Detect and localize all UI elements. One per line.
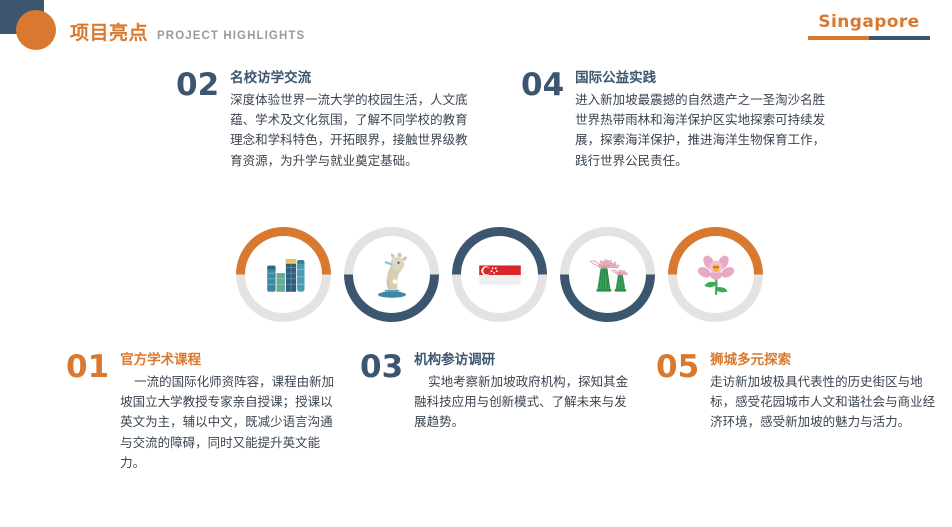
highlight-number-04: 04 xyxy=(521,70,564,101)
orchid-icon xyxy=(687,246,745,304)
brand: Singapore xyxy=(808,12,930,40)
highlight-block-01: 01 官方学术课程 一流的国际化师资阵容，课程由新加坡国立大学教授专家亲自授课；… xyxy=(66,352,336,473)
singapore-flag-icon xyxy=(471,246,529,304)
highlight-block-03: 03 机构参访调研 实地考察新加坡政府机构，探知其金融科技应用与创新模式、了解未… xyxy=(360,352,630,433)
highlight-icon-chain xyxy=(236,227,763,322)
brand-label: Singapore xyxy=(808,12,930,32)
page-title-cn: 项目亮点 xyxy=(70,18,148,45)
highlight-block-04: 04 国际公益实践 进入新加坡最震撼的自然遗产之一圣淘沙名胜世界热带雨林和海洋保… xyxy=(521,70,831,171)
skyline-icon xyxy=(255,246,313,304)
highlight-block-02: 02 名校访学交流 深度体验世界一流大学的校园生活，人文底蕴、学术及文化氛围，了… xyxy=(176,70,476,171)
slide-root: 项目亮点 PROJECT HIGHLIGHTS Singapore 02 名校访… xyxy=(0,0,952,527)
highlight-desc-02: 深度体验世界一流大学的校园生活，人文底蕴、学术及文化氛围，了解不同学校的教育理念… xyxy=(230,90,476,171)
brand-underline xyxy=(808,36,930,40)
chain-node-3 xyxy=(452,227,547,322)
highlight-block-05: 05 狮城多元探索 走访新加坡极具代表性的历史街区与地标，感受花园城市人文和谐社… xyxy=(656,352,936,433)
decor-circle xyxy=(16,10,56,50)
highlight-desc-01: 一流的国际化师资阵容，课程由新加坡国立大学教授专家亲自授课；授课以英文为主，辅以… xyxy=(120,372,336,473)
brand-underline-orange xyxy=(808,36,869,40)
highlight-number-02: 02 xyxy=(176,70,219,101)
chain-node-1 xyxy=(236,227,331,322)
page-title-en: PROJECT HIGHLIGHTS xyxy=(157,30,305,42)
highlight-number-01: 01 xyxy=(66,352,109,383)
chain-node-5 xyxy=(668,227,763,322)
supertree-icon xyxy=(579,246,637,304)
page-title: 项目亮点 PROJECT HIGHLIGHTS xyxy=(70,18,305,45)
highlight-title-02: 名校访学交流 xyxy=(230,70,476,87)
highlight-title-05: 狮城多元探索 xyxy=(710,352,936,369)
highlight-title-01: 官方学术课程 xyxy=(120,352,336,369)
brand-underline-navy xyxy=(869,36,930,40)
highlight-desc-05: 走访新加坡极具代表性的历史街区与地标，感受花园城市人文和谐社会与商业经济环境，感… xyxy=(710,372,936,433)
highlight-title-03: 机构参访调研 xyxy=(414,352,630,369)
highlight-desc-04: 进入新加坡最震撼的自然遗产之一圣淘沙名胜世界热带雨林和海洋保护区实地探索可持续发… xyxy=(575,90,831,171)
highlight-title-04: 国际公益实践 xyxy=(575,70,831,87)
highlight-number-05: 05 xyxy=(656,352,699,383)
highlight-desc-03: 实地考察新加坡政府机构，探知其金融科技应用与创新模式、了解未来与发展趋势。 xyxy=(414,372,630,433)
chain-node-2 xyxy=(344,227,439,322)
highlight-number-03: 03 xyxy=(360,352,403,383)
chain-node-4 xyxy=(560,227,655,322)
merlion-icon xyxy=(363,246,421,304)
